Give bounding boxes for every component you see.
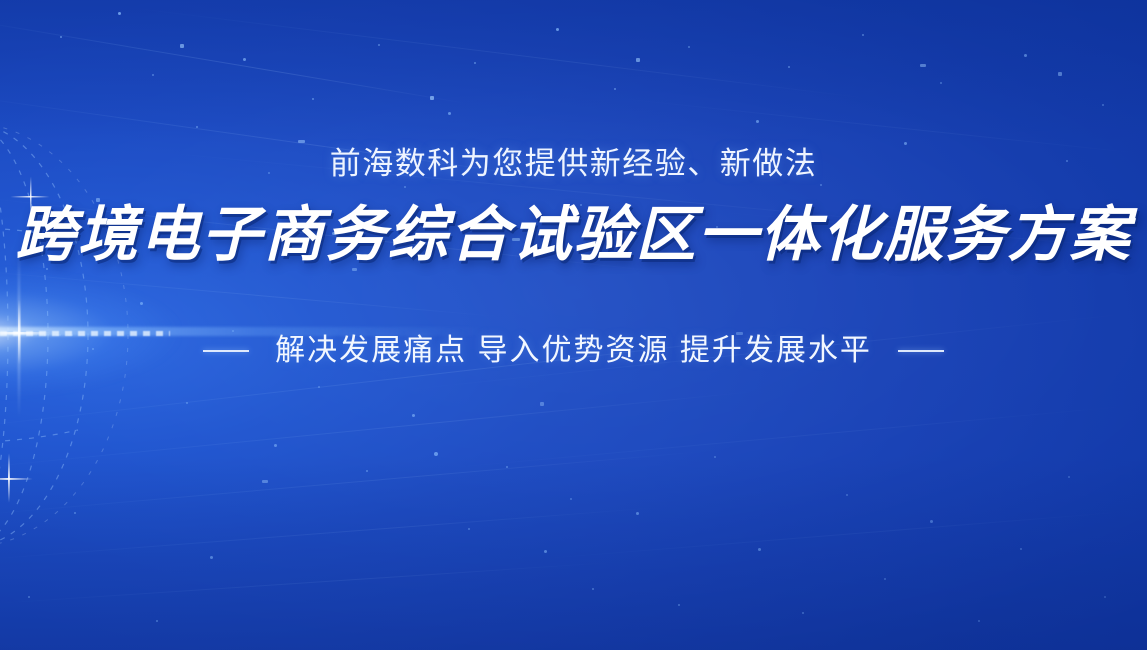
tagline-rule-right — [898, 350, 944, 352]
banner-content: 前海数科为您提供新经验、新做法 跨境电子商务综合试验区一体化服务方案 解决发展痛… — [0, 0, 1147, 650]
banner-headline: 跨境电子商务综合试验区一体化服务方案 — [16, 205, 1132, 265]
tagline-rule-left — [203, 350, 249, 352]
banner-tagline: 解决发展痛点 导入优势资源 提升发展水平 — [275, 336, 872, 366]
banner-subtitle: 前海数科为您提供新经验、新做法 — [330, 148, 818, 179]
banner-tagline-row: 解决发展痛点 导入优势资源 提升发展水平 — [203, 336, 944, 366]
hero-banner: 前海数科为您提供新经验、新做法 跨境电子商务综合试验区一体化服务方案 解决发展痛… — [0, 0, 1147, 650]
